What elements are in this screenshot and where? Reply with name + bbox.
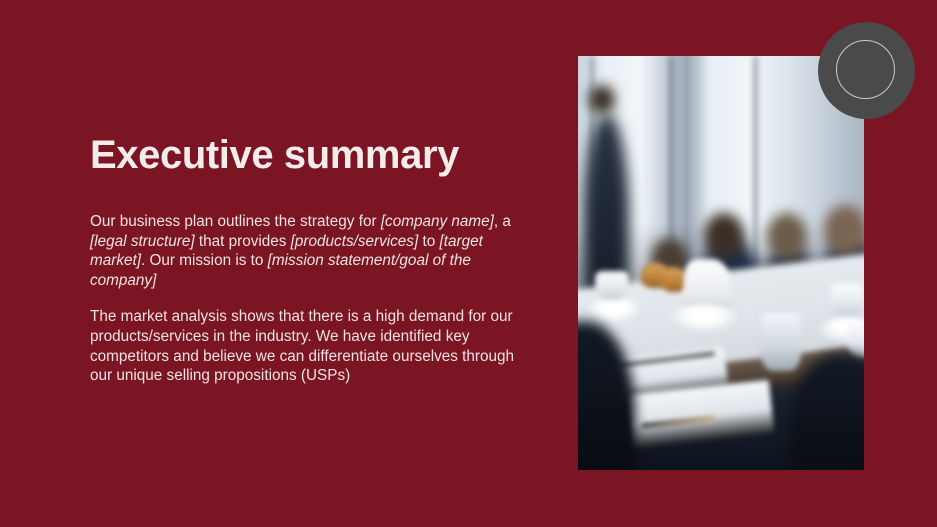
pastry <box>661 267 687 292</box>
slide-canvas: Executive summary Our business plan outl… <box>0 0 937 527</box>
text-run: The market analysis shows that there is … <box>90 308 514 384</box>
placeholder-token: [products/services] <box>291 233 419 250</box>
paragraph-2: The market analysis shows that there is … <box>90 307 518 385</box>
body-copy: Our business plan outlines the strategy … <box>90 212 518 386</box>
coffee-mug <box>761 313 801 371</box>
text-run: that provides <box>195 233 291 250</box>
person-head <box>824 205 864 255</box>
coffee-cup <box>830 284 864 317</box>
text-run: to <box>418 233 439 250</box>
paragraph-1: Our business plan outlines the strategy … <box>90 212 518 290</box>
page-title: Executive summary <box>90 133 459 177</box>
placeholder-token: [company name] <box>381 213 494 230</box>
placeholder-token: [legal structure] <box>90 233 195 250</box>
text-run: Our business plan outlines the strategy … <box>90 213 381 230</box>
text-run: , a <box>494 213 511 230</box>
text-run: . Our mission is to <box>141 252 268 269</box>
saucer <box>584 296 644 325</box>
boardroom-meeting-photo <box>578 56 864 470</box>
coffee-cup <box>595 271 629 300</box>
circle-badge-ring-icon <box>836 40 895 99</box>
person-head <box>767 213 807 259</box>
person-head <box>704 213 744 259</box>
sunburst-decoration <box>0 431 182 527</box>
circle-badge <box>818 22 915 119</box>
person-head <box>589 85 615 114</box>
